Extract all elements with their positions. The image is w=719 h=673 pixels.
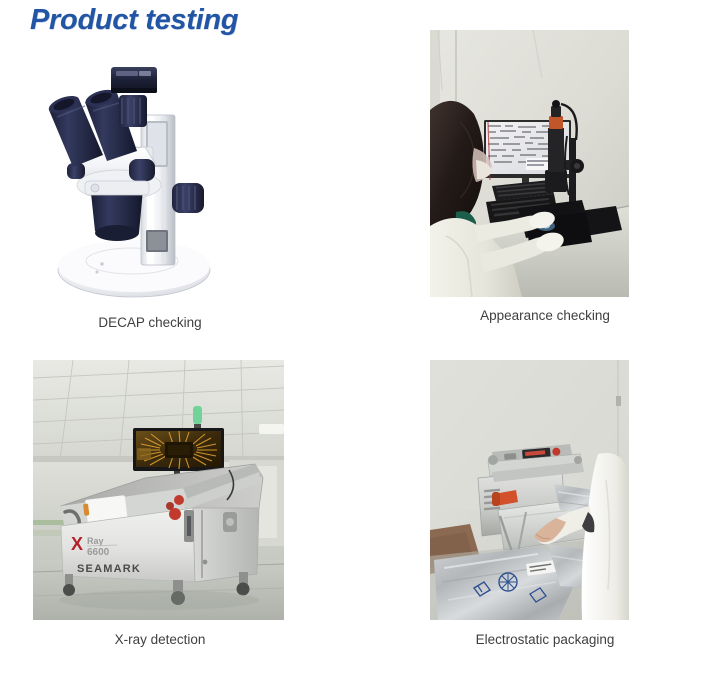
appearance-inspection-illustration xyxy=(430,30,629,297)
camera-port xyxy=(119,95,147,127)
xray-model-line2: 6600 xyxy=(87,547,110,558)
image-electrostatic-packaging xyxy=(430,360,629,620)
product-testing-grid: DECAP checking xyxy=(0,0,719,673)
image-xray-machine: X Ray 6600 SEAMARK xyxy=(33,360,284,620)
microscope-illustration xyxy=(33,55,265,305)
caption-electrostatic-packaging: Electrostatic packaging xyxy=(400,632,690,647)
card-xray-detection: X Ray 6600 SEAMARK X-r xyxy=(0,360,320,660)
caption-appearance-checking: Appearance checking xyxy=(400,308,690,323)
focus-knob xyxy=(172,183,204,213)
card-appearance-checking: Appearance checking xyxy=(400,30,690,340)
emergency-button-top xyxy=(174,495,184,505)
card-decap-checking: DECAP checking xyxy=(0,55,300,340)
xray-model-line1: Ray xyxy=(87,536,104,546)
image-microscope xyxy=(33,55,265,305)
card-electrostatic-packaging: Electrostatic packaging xyxy=(400,360,690,660)
caption-decap-checking: DECAP checking xyxy=(0,315,300,330)
xray-brand: SEAMARK xyxy=(77,563,141,575)
camera-body xyxy=(111,67,157,93)
image-appearance-inspection xyxy=(430,30,629,297)
emergency-button-front xyxy=(169,508,181,520)
xray-machine-illustration: X Ray 6600 SEAMARK xyxy=(33,360,284,620)
objective-lens xyxy=(91,189,143,241)
caption-xray-detection: X-ray detection xyxy=(0,632,320,647)
xray-mark: X xyxy=(71,534,83,554)
zoom-knob-right xyxy=(129,159,155,181)
tower-light xyxy=(193,406,202,424)
esd-packaging-illustration xyxy=(430,360,629,620)
